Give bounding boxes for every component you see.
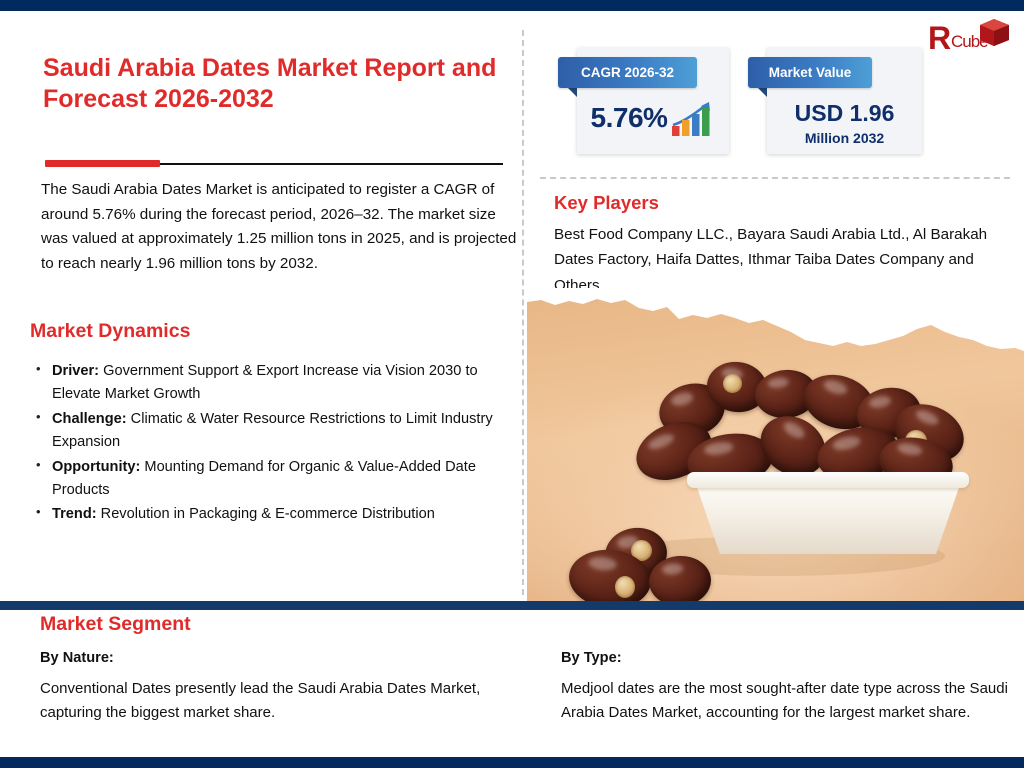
- page-title: Saudi Arabia Dates Market Report and For…: [43, 53, 523, 114]
- stat-card-cagr: CAGR 2026-32 5.76%: [577, 48, 729, 154]
- title-underline-line: [160, 163, 503, 165]
- mid-navy-divider: [0, 601, 1024, 610]
- stat-card-market-value: Market Value USD 1.96 Million 2032: [767, 48, 922, 154]
- segment-by-nature-label: By Nature:: [40, 650, 114, 666]
- ribbon-fold-cagr: [558, 88, 577, 97]
- list-item: Trend: Revolution in Packaging & E-comme…: [30, 503, 510, 526]
- vertical-dashed-divider: [522, 30, 524, 595]
- market-dynamics-heading: Market Dynamics: [30, 320, 190, 343]
- stat-card-cagr-ribbon-label: CAGR 2026-32: [558, 57, 697, 88]
- dynamics-text-driver: Government Support & Export Increase via…: [52, 363, 478, 402]
- key-players-heading: Key Players: [554, 192, 659, 214]
- white-bowl-rim: [687, 472, 969, 488]
- dynamics-label-opportunity: Opportunity:: [52, 459, 140, 475]
- ribbon-fold-market-value: [748, 88, 767, 97]
- brand-logo[interactable]: ЯCube: [925, 18, 1020, 66]
- top-navy-bar: [0, 0, 1024, 11]
- brand-logo-r-glyph: Я: [929, 22, 951, 54]
- segment-by-type-label: By Type:: [561, 650, 622, 666]
- list-item: Challenge: Climatic & Water Resource Res…: [30, 408, 510, 454]
- red-cube-icon: [978, 18, 1012, 50]
- stat-card-cagr-value: 5.76%: [591, 102, 668, 134]
- list-item: Driver: Government Support & Export Incr…: [30, 360, 510, 406]
- market-dynamics-list: Driver: Government Support & Export Incr…: [30, 360, 510, 528]
- bottom-navy-bar: [0, 757, 1024, 768]
- dates-photo: [527, 288, 1024, 601]
- date-pit: [615, 576, 635, 598]
- horizontal-dashed-divider: [540, 177, 1010, 179]
- market-segment-heading: Market Segment: [40, 613, 191, 636]
- intro-paragraph: The Saudi Arabia Dates Market is anticip…: [41, 178, 519, 277]
- stat-card-market-value-value: USD 1.96: [767, 100, 922, 127]
- stat-card-market-value-ribbon-label: Market Value: [748, 57, 872, 88]
- segment-by-type-text: Medjool dates are the most sought-after …: [561, 677, 1011, 726]
- title-underline: [45, 160, 503, 167]
- date-pit: [723, 374, 742, 393]
- segment-by-nature-text: Conventional Dates presently lead the Sa…: [40, 677, 490, 726]
- title-underline-accent: [45, 160, 160, 167]
- dynamics-label-trend: Trend:: [52, 506, 97, 522]
- key-players-text: Best Food Company LLC., Bayara Saudi Ara…: [554, 222, 998, 298]
- list-item: Opportunity: Mounting Demand for Organic…: [30, 456, 510, 502]
- bar-chart-growth-icon: [669, 98, 715, 138]
- dynamics-label-challenge: Challenge:: [52, 411, 127, 427]
- stat-card-market-value-subvalue: Million 2032: [767, 130, 922, 146]
- dynamics-label-driver: Driver:: [52, 363, 99, 379]
- dynamics-text-trend: Revolution in Packaging & E-commerce Dis…: [97, 506, 435, 522]
- stat-card-cagr-content: 5.76%: [577, 98, 729, 138]
